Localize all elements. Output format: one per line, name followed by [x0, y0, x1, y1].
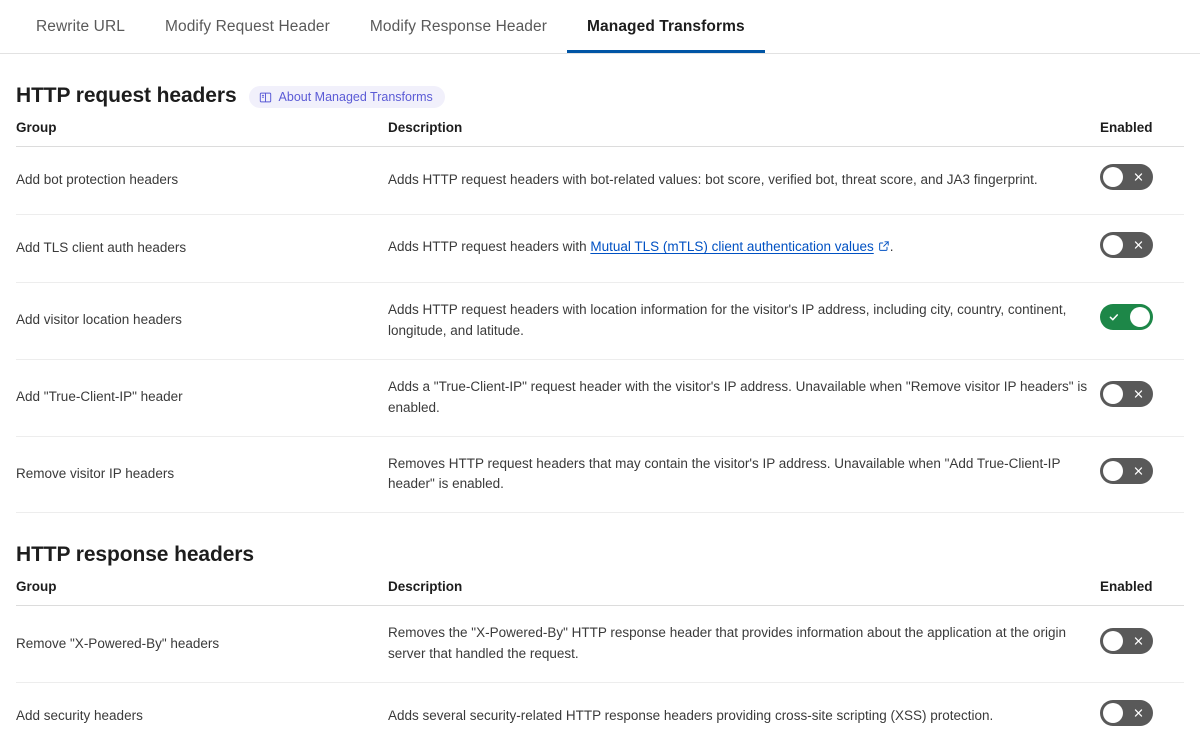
column-header-description: Description — [388, 120, 1100, 147]
section-http-response-headers: HTTP response headersGroupDescriptionEna… — [16, 543, 1184, 742]
column-header-description: Description — [388, 579, 1100, 606]
enabled-cell — [1100, 359, 1184, 436]
managed-transforms-table: GroupDescriptionEnabledRemove "X-Powered… — [16, 579, 1184, 742]
link-label: Mutual TLS (mTLS) client authentication … — [590, 239, 873, 254]
table-header-row: GroupDescriptionEnabled — [16, 579, 1184, 606]
toggle-knob — [1103, 703, 1123, 723]
table-row: Remove "X-Powered-By" headersRemoves the… — [16, 606, 1184, 683]
description-text: Removes HTTP request headers that may co… — [388, 456, 1060, 492]
group-label: Add visitor location headers — [16, 312, 182, 327]
toggle-knob — [1103, 384, 1123, 404]
close-icon — [1133, 708, 1144, 719]
mtls-docs-link[interactable]: Mutual TLS (mTLS) client authentication … — [590, 239, 873, 254]
column-header-group: Group — [16, 120, 388, 147]
table-row: Add visitor location headersAdds HTTP re… — [16, 282, 1184, 359]
about-pill-label: About Managed Transforms — [279, 90, 433, 104]
description-prefix: Adds HTTP request headers with — [388, 239, 590, 254]
table-row: Add "True-Client-IP" headerAdds a "True-… — [16, 359, 1184, 436]
tab-label: Modify Response Header — [370, 18, 547, 36]
check-icon — [1108, 311, 1120, 323]
group-label: Remove "X-Powered-By" headers — [16, 636, 219, 651]
enabled-cell — [1100, 214, 1184, 282]
description-cell: Adds HTTP request headers with bot-relat… — [388, 147, 1100, 215]
description-text: Adds several security-related HTTP respo… — [388, 708, 993, 723]
tab-managed-transforms[interactable]: Managed Transforms — [567, 0, 765, 53]
group-label: Add TLS client auth headers — [16, 240, 186, 255]
enabled-cell — [1100, 147, 1184, 215]
enabled-toggle[interactable] — [1100, 381, 1153, 407]
toggle-knob — [1130, 307, 1150, 327]
tab-bar: Rewrite URLModify Request HeaderModify R… — [0, 0, 1200, 54]
section-title: HTTP request headers — [16, 84, 237, 108]
description-text: Adds HTTP request headers with location … — [388, 302, 1066, 338]
description-cell: Removes the "X-Powered-By" HTTP response… — [388, 606, 1100, 683]
table-row: Add bot protection headersAdds HTTP requ… — [16, 147, 1184, 215]
group-cell: Add TLS client auth headers — [16, 214, 388, 282]
group-cell: Add "True-Client-IP" header — [16, 359, 388, 436]
enabled-cell — [1100, 436, 1184, 513]
enabled-cell — [1100, 282, 1184, 359]
toggle-knob — [1103, 167, 1123, 187]
group-cell: Remove visitor IP headers — [16, 436, 388, 513]
group-label: Add "True-Client-IP" header — [16, 389, 183, 404]
group-cell: Add bot protection headers — [16, 147, 388, 215]
section-http-request-headers: HTTP request headersAbout Managed Transf… — [16, 84, 1184, 513]
enabled-cell — [1100, 683, 1184, 742]
about-managed-transforms-link[interactable]: About Managed Transforms — [249, 86, 445, 108]
close-icon — [1133, 465, 1144, 476]
table-row: Add TLS client auth headersAdds HTTP req… — [16, 214, 1184, 282]
enabled-toggle[interactable] — [1100, 700, 1153, 726]
enabled-toggle[interactable] — [1100, 304, 1153, 330]
toggle-knob — [1103, 461, 1123, 481]
book-icon — [259, 91, 272, 104]
column-header-enabled: Enabled — [1100, 120, 1184, 147]
section-header: HTTP request headersAbout Managed Transf… — [16, 84, 1184, 108]
group-label: Remove visitor IP headers — [16, 466, 174, 481]
enabled-toggle[interactable] — [1100, 628, 1153, 654]
close-icon — [1133, 239, 1144, 250]
section-title: HTTP response headers — [16, 543, 254, 567]
group-label: Add bot protection headers — [16, 172, 178, 187]
tab-rewrite-url[interactable]: Rewrite URL — [16, 0, 145, 53]
tab-modify-request-header[interactable]: Modify Request Header — [145, 0, 350, 53]
description-text: Adds a "True-Client-IP" request header w… — [388, 379, 1087, 415]
toggle-knob — [1103, 631, 1123, 651]
table-row: Remove visitor IP headersRemoves HTTP re… — [16, 436, 1184, 513]
description-cell: Adds HTTP request headers with Mutual TL… — [388, 214, 1100, 282]
description-cell: Removes HTTP request headers that may co… — [388, 436, 1100, 513]
tab-label: Rewrite URL — [36, 18, 125, 36]
enabled-cell — [1100, 606, 1184, 683]
description-cell: Adds several security-related HTTP respo… — [388, 683, 1100, 742]
description-suffix: . — [890, 239, 894, 254]
description-text: Adds HTTP request headers with bot-relat… — [388, 172, 1038, 187]
tab-label: Managed Transforms — [587, 18, 745, 36]
close-icon — [1133, 389, 1144, 400]
description-cell: Adds HTTP request headers with location … — [388, 282, 1100, 359]
group-label: Add security headers — [16, 708, 143, 723]
group-cell: Add visitor location headers — [16, 282, 388, 359]
column-header-group: Group — [16, 579, 388, 606]
description-text: Removes the "X-Powered-By" HTTP response… — [388, 625, 1066, 661]
enabled-toggle[interactable] — [1100, 458, 1153, 484]
column-header-enabled: Enabled — [1100, 579, 1184, 606]
managed-transforms-table: GroupDescriptionEnabledAdd bot protectio… — [16, 120, 1184, 513]
external-link-icon — [878, 238, 890, 259]
table-row: Add security headersAdds several securit… — [16, 683, 1184, 742]
table-header-row: GroupDescriptionEnabled — [16, 120, 1184, 147]
toggle-knob — [1103, 235, 1123, 255]
tab-modify-response-header[interactable]: Modify Response Header — [350, 0, 567, 53]
enabled-toggle[interactable] — [1100, 232, 1153, 258]
group-cell: Remove "X-Powered-By" headers — [16, 606, 388, 683]
close-icon — [1133, 635, 1144, 646]
tab-label: Modify Request Header — [165, 18, 330, 36]
description-cell: Adds a "True-Client-IP" request header w… — [388, 359, 1100, 436]
group-cell: Add security headers — [16, 683, 388, 742]
close-icon — [1133, 172, 1144, 183]
enabled-toggle[interactable] — [1100, 164, 1153, 190]
section-header: HTTP response headers — [16, 543, 1184, 567]
managed-transforms-content: HTTP request headersAbout Managed Transf… — [0, 84, 1200, 742]
